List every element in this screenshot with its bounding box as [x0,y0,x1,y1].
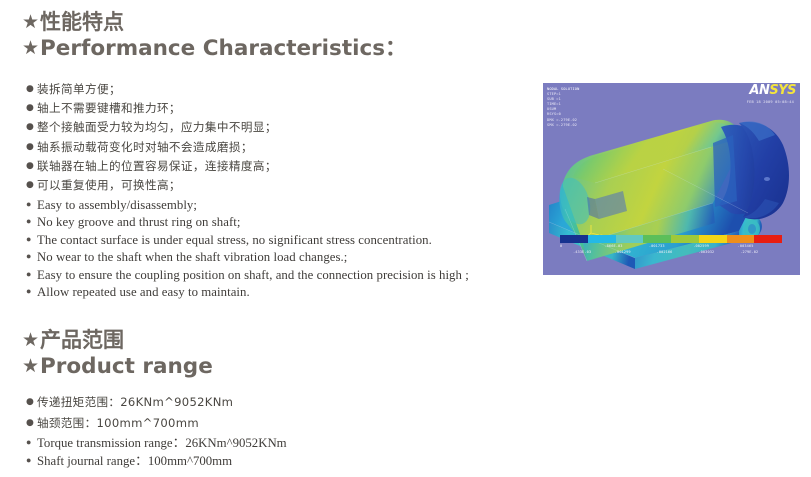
colorbar-tick-bottom-1: .001299 [615,250,657,254]
list-item-label: No wear to the shaft when the shaft vibr… [37,250,347,264]
product-range-heading-block: ★产品范围 ★Product range [22,328,213,380]
bullet-icon: ● [26,138,37,157]
list-item-label: Easy to ensure the coupling position on … [37,268,469,282]
colorbar-labels-bottom: .433E-03.001299.002166.003032.279E-02 [560,250,782,254]
bullet-icon: ● [26,118,37,137]
bullet-icon: ● [26,176,37,195]
performance-list-en: ●Easy to assembly/disassembly; ●No key g… [26,196,469,300]
bullet-icon: ● [26,434,37,451]
ansys-logo-sys: SYS [769,83,796,98]
colorbar-tick-bottom-4: .279E-02 [740,250,782,254]
list-item-label: 整个接触面受力较为均匀，应力集中不明显； [37,120,277,134]
performance-list-cn: ●装拆简单方便； ●轴上不需要键槽和推力环； ●整个接触面受力较为均匀，应力集中… [26,80,277,195]
bullet-icon: ● [26,231,37,247]
colorbar-tick-bottom-2: .002166 [657,250,699,254]
list-item: ●传递扭矩范围：26KNm^9052KNm [26,392,233,413]
list-item-label: 可以重复使用，可换性高； [37,178,181,192]
product-range-list-cn: ●传递扭矩范围：26KNm^9052KNm ●轴颈范围：100mm^700mm [26,392,233,434]
colorbar-swatch-1 [588,235,616,243]
product-range-heading-cn-text: 产品范围 [40,328,124,352]
product-range-list-en: ●Torque transmission range：26KNm^9052KNm… [26,434,287,470]
list-item-label: Shaft journal range：100mm^700mm [37,454,232,468]
list-item: ●No key groove and thrust ring on shaft; [26,213,469,230]
list-item-label: Allow repeated use and easy to maintain. [37,285,250,299]
ansys-colorbar: 0.866E-03.001733.002599.003465 .433E-03.… [560,235,782,257]
performance-heading-cn: ★性能特点 [22,10,407,35]
ansys-legend-lines: STEP=1 SUB =1 TIME=1 USUM RSYS=0 DMX =.2… [547,92,577,127]
list-item: ●联轴器在轴上的位置容易保证，连接精度高； [26,157,277,176]
colorbar-labels: 0.866E-03.001733.002599.003465 .433E-03.… [560,243,782,257]
list-item: ●Easy to ensure the coupling position on… [26,266,469,283]
performance-heading-en: ★Performance Characteristics： [22,35,407,62]
bullet-icon: ● [26,413,37,434]
colorbar-tick-top-1: .866E-03 [604,244,648,248]
ansys-logo-an: AN [749,83,769,98]
list-item: ●Torque transmission range：26KNm^9052KNm [26,434,287,452]
performance-heading-cn-text: 性能特点 [40,10,124,34]
list-item: ●整个接触面受力较为均匀，应力集中不明显； [26,118,277,137]
list-item-label: Easy to assembly/disassembly; [37,198,197,212]
list-item: ●轴颈范围：100mm^700mm [26,413,233,434]
list-item-label: 轴颈范围：100mm^700mm [37,416,199,430]
star-icon: ★ [22,329,39,351]
colorbar-swatch-3 [643,235,671,243]
colorbar-swatch-5 [699,235,727,243]
list-item-label: The contact surface is under equal stres… [37,233,432,247]
colorbar-strip [560,235,782,243]
bullet-icon: ● [26,157,37,176]
list-item-label: 联轴器在轴上的位置容易保证，连接精度高； [37,159,277,173]
ansys-logo: ANSYS [749,84,796,98]
bullet-icon: ● [26,80,37,99]
bullet-icon: ● [26,266,37,282]
list-item: ●The contact surface is under equal stre… [26,231,469,248]
list-item: ●Easy to assembly/disassembly; [26,196,469,213]
list-item-label: 传递扭矩范围：26KNm^9052KNm [37,395,233,409]
performance-heading-block: ★性能特点 ★Performance Characteristics： [22,10,407,62]
list-item-label: 装拆简单方便； [37,82,121,96]
list-item-label: 轴上不需要键槽和推力环； [37,101,181,115]
list-item: ●No wear to the shaft when the shaft vib… [26,248,469,265]
product-range-heading-cn: ★产品范围 [22,328,213,353]
star-icon: ★ [22,37,39,59]
bullet-icon: ● [26,213,37,229]
ansys-date-stamp: FEB 18 2009 05:08:44 [747,100,794,105]
bullet-icon: ● [26,248,37,264]
list-item: ●装拆简单方便； [26,80,277,99]
colorbar-tick-bottom-0: .433E-03 [573,250,615,254]
product-range-heading-en-text: Product range [40,354,213,379]
product-range-heading-en: ★Product range [22,353,213,380]
star-icon: ★ [22,355,39,377]
bullet-icon: ● [26,99,37,118]
colorbar-tick-top-4: .003465 [738,244,782,248]
ansys-legend-title: NODAL SOLUTION [547,87,579,91]
colorbar-swatch-2 [616,235,644,243]
colorbar-swatch-7 [754,235,782,243]
performance-heading-en-text: Performance Characteristics： [40,36,406,61]
colorbar-tick-top-3: .002599 [693,244,737,248]
list-item: ●Shaft journal range：100mm^700mm [26,452,287,470]
ansys-simulation-figure: Z NODAL SOLUTION STEP=1 SUB =1 TIME=1 US… [543,83,800,275]
bullet-icon: ● [26,196,37,212]
bullet-icon: ● [26,452,37,469]
colorbar-labels-top: 0.866E-03.001733.002599.003465 [560,244,782,248]
list-item: ●可以重复使用，可换性高； [26,176,277,195]
list-item: ●轴上不需要键槽和推力环； [26,99,277,118]
bullet-icon: ● [26,392,37,413]
slide-canvas: ★性能特点 ★Performance Characteristics： ●装拆简… [0,0,811,477]
star-icon: ★ [22,11,39,33]
bullet-icon: ● [26,283,37,299]
list-item: ●轴系振动载荷变化时对轴不会造成磨损； [26,138,277,157]
colorbar-tick-top-0: 0 [560,244,604,248]
list-item-label: No key groove and thrust ring on shaft; [37,215,240,229]
colorbar-swatch-6 [727,235,755,243]
colorbar-tick-bottom-3: .003032 [698,250,740,254]
list-item-label: 轴系振动载荷变化时对轴不会造成磨损； [37,140,253,154]
ansys-legend-text: NODAL SOLUTION STEP=1 SUB =1 TIME=1 USUM… [547,87,579,128]
list-item: ●Allow repeated use and easy to maintain… [26,283,469,300]
colorbar-tick-top-2: .001733 [649,244,693,248]
colorbar-swatch-4 [671,235,699,243]
colorbar-swatch-0 [560,235,588,243]
list-item-label: Torque transmission range：26KNm^9052KNm [37,436,287,450]
